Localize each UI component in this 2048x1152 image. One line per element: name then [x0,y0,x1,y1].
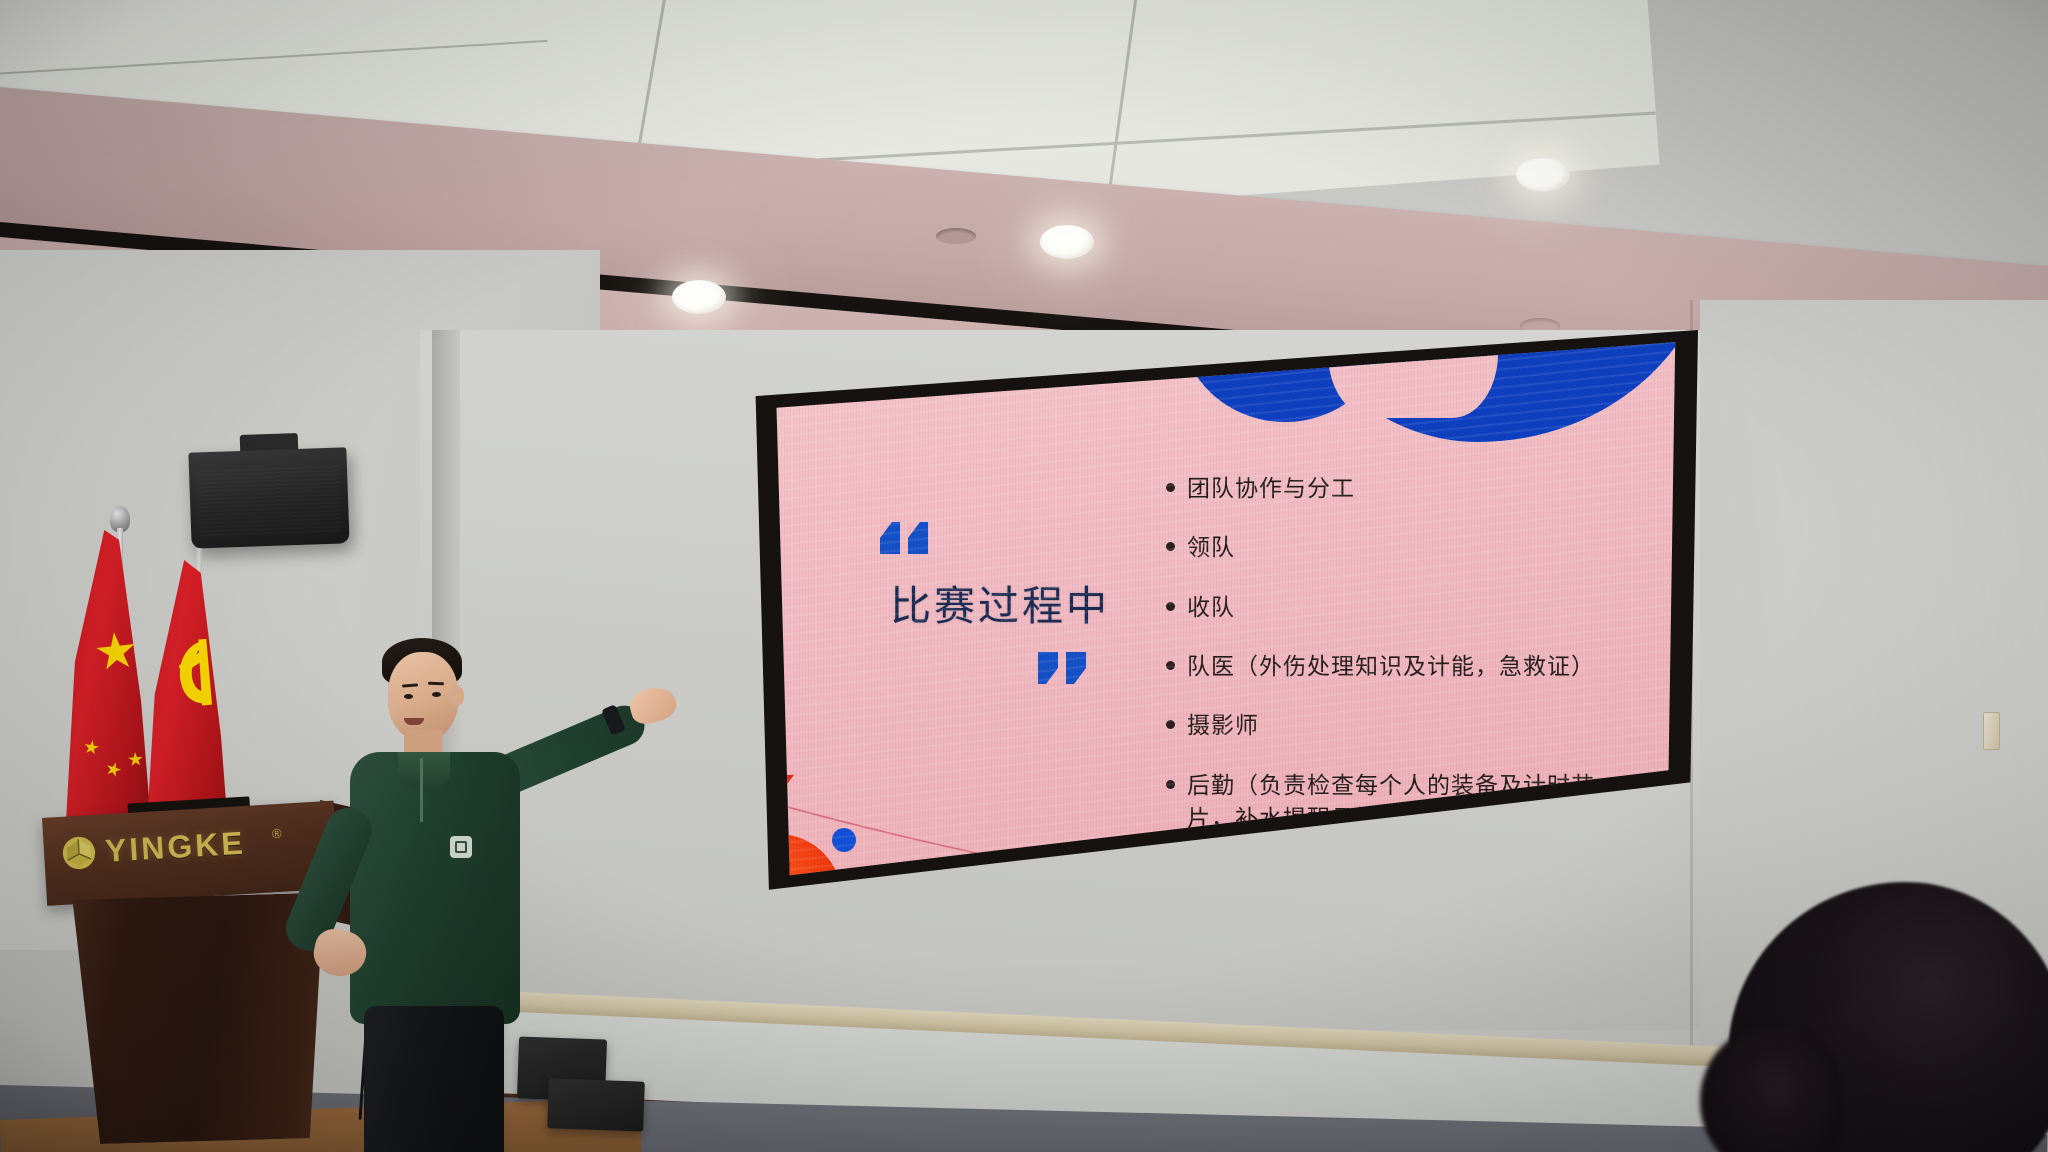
presenter-eye [404,694,413,699]
presenter-zipper [420,758,423,822]
audience-member-foreground [1708,852,2048,1152]
wall-speaker [188,447,349,548]
bullet-dot-icon [1166,661,1175,670]
bullet-dot-icon [1166,720,1175,729]
presenter-chest-logo [450,836,472,858]
slide-title-block: 比赛过程中 [860,520,1160,690]
ceiling-vent [936,228,976,244]
presenter-torso [350,752,520,1024]
slide-bullet-item: 团队协作与分工 [1166,472,1636,505]
slide-bullet-item: 摄影师 [1166,709,1636,742]
hammer-and-sickle-icon [168,632,222,732]
presenter-ear [450,686,464,706]
presenter-eye [432,692,441,697]
bullet-text: 收队 [1187,591,1235,624]
bullet-dot-icon [1166,483,1175,492]
presenter-brow [428,682,444,686]
slide-bullet-item: 领队 [1166,531,1636,564]
bullet-text: 团队协作与分工 [1187,472,1355,505]
bullet-text: 队医（外伤处理知识及计能，急救证） [1187,650,1595,683]
presenter-collar [398,752,450,788]
display-screen[interactable]: 比赛过程中 团队协作与分工 [748,330,1698,910]
conference-room-scene: 比赛过程中 团队协作与分工 [0,0,2048,1152]
light-switch-plate[interactable] [1983,712,2000,750]
slide-title: 比赛过程中 [890,572,1160,632]
presenter-legs [364,1006,504,1152]
ceiling-grid-line [0,40,548,78]
bullet-dot-icon [1166,602,1175,611]
ceiling-grid-line [1107,0,1155,202]
presenter-head [388,652,458,740]
presentation-display[interactable]: 比赛过程中 团队协作与分工 [748,330,1698,910]
ceiling-downlight [1516,158,1570,192]
bullet-dot-icon [1166,780,1175,789]
ceiling-downlight [672,280,726,314]
ceiling-downlight [1040,225,1094,259]
bullet-dot-icon [1166,542,1175,551]
quote-open-icon [878,520,1160,560]
cube-logo-icon [61,835,97,871]
podium-registered-mark: ® [272,826,282,842]
bullet-text: 领队 [1187,531,1235,564]
bullet-text: 摄影师 [1187,709,1259,742]
presenter [300,600,680,1152]
audience-hair [1728,882,2048,1152]
slide-bullet-item: 队医（外伤处理知识及计能，急救证） [1166,650,1636,683]
slide-bullet-item: 收队 [1166,591,1636,624]
quote-close-icon [1036,650,1160,690]
slide-canvas: 比赛过程中 团队协作与分工 [748,330,1698,910]
